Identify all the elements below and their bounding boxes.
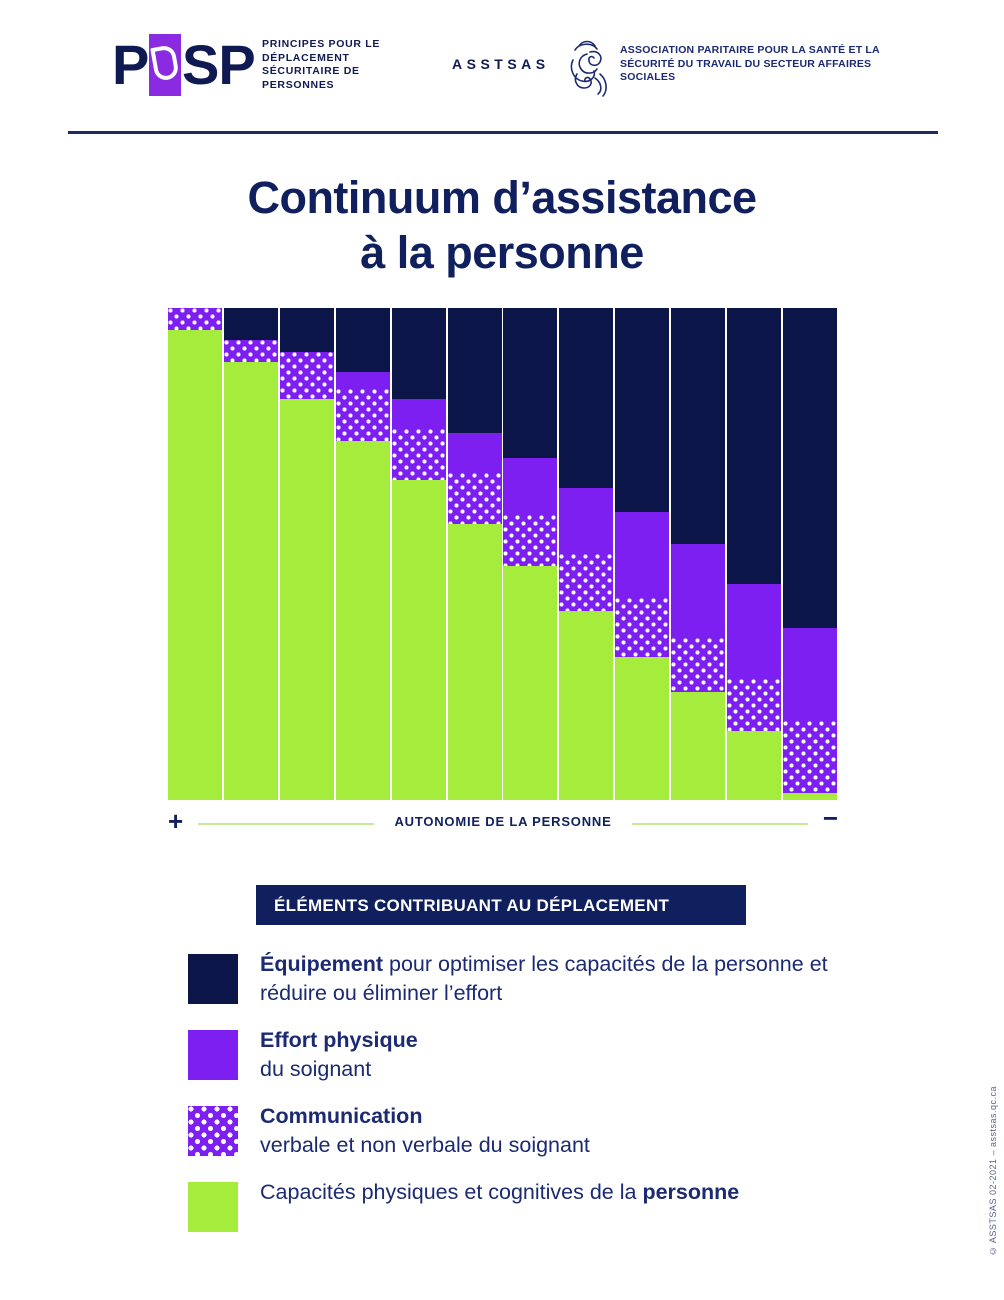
chart-segment-capacity bbox=[224, 362, 278, 800]
chart-segment-comm bbox=[336, 389, 390, 441]
chart-segment-equip bbox=[727, 308, 781, 584]
axis-label: AUTONOMIE DE LA PERSONNE bbox=[168, 814, 838, 829]
chart-segment-capacity bbox=[168, 330, 222, 800]
chart-segment-comm bbox=[503, 515, 557, 567]
axis-minus-icon: − bbox=[823, 805, 838, 831]
chart-segment-effort bbox=[783, 628, 837, 721]
legend-item-communication: Communicationverbale et non verbale du s… bbox=[188, 1102, 828, 1160]
chart-segment-comm bbox=[168, 308, 222, 330]
pdsp-logo-letters-sp: SP bbox=[182, 36, 255, 94]
page-title-line-2: à la personne bbox=[0, 225, 1004, 280]
chart-segment-capacity bbox=[559, 611, 613, 800]
page-header: P SP Principes pour le déplacement sécur… bbox=[0, 0, 1004, 122]
chart-bar bbox=[168, 308, 222, 800]
chart-bar bbox=[503, 308, 557, 800]
chart-bar bbox=[448, 308, 502, 800]
chart-segment-equip bbox=[224, 308, 278, 340]
legend-label-effort: Effort physiquedu soignant bbox=[260, 1026, 828, 1084]
chart-bar bbox=[392, 308, 446, 800]
chart-bar bbox=[336, 308, 390, 800]
asstsas-tagline: Association paritaire pour la santé et l… bbox=[620, 44, 910, 85]
chart-segment-equip bbox=[671, 308, 725, 544]
chart-bar bbox=[280, 308, 334, 800]
copyright-notice: © ASSTSAS 02-2021 – asstsas.qc.ca bbox=[988, 1086, 998, 1256]
autonomy-axis: + AUTONOMIE DE LA PERSONNE − bbox=[168, 812, 838, 838]
chart-segment-equip bbox=[615, 308, 669, 512]
chart-bar bbox=[783, 308, 837, 800]
legend-label-capacites: Capacités physiques et cognitives de la … bbox=[260, 1178, 828, 1207]
chart-segment-effort bbox=[559, 488, 613, 554]
chart-segment-effort bbox=[671, 544, 725, 637]
asstsas-wordmark: ASSTSAS bbox=[452, 56, 550, 72]
chart-segment-effort bbox=[392, 399, 446, 429]
pdsp-logo-letter-p: P bbox=[112, 36, 148, 94]
chart-segment-capacity bbox=[448, 524, 502, 800]
chart-segment-equip bbox=[336, 308, 390, 372]
asstsas-spiral-icon bbox=[565, 36, 613, 98]
pdsp-tagline: Principes pour le déplacement sécuritair… bbox=[262, 38, 392, 92]
pdsp-logo: P SP bbox=[112, 34, 260, 96]
chart-segment-capacity bbox=[615, 657, 669, 800]
chart-segment-equip bbox=[783, 308, 837, 628]
chart-segment-comm bbox=[448, 473, 502, 525]
page-title: Continuum d’assistance à la personne bbox=[0, 170, 1004, 280]
legend-label-communication: Communicationverbale et non verbale du s… bbox=[260, 1102, 828, 1160]
legend-swatch-equipement bbox=[188, 954, 238, 1004]
chart-segment-equip bbox=[448, 308, 502, 433]
chart-bar bbox=[224, 308, 278, 800]
legend-banner-title: ÉLÉMENTS CONTRIBUANT AU DÉPLACEMENT bbox=[274, 896, 669, 916]
chart-segment-equip bbox=[559, 308, 613, 488]
chart-segment-equip bbox=[503, 308, 557, 458]
chart-segment-capacity bbox=[783, 793, 837, 800]
chart-bar bbox=[615, 308, 669, 800]
legend-item-effort: Effort physiquedu soignant bbox=[188, 1026, 828, 1084]
chart-segment-capacity bbox=[336, 441, 390, 800]
chart-segment-capacity bbox=[671, 692, 725, 800]
legend-item-equipement: Équipement pour optimiser les capacités … bbox=[188, 950, 828, 1008]
header-divider bbox=[68, 131, 938, 134]
chart-segment-capacity bbox=[503, 566, 557, 800]
axis-line-right bbox=[632, 823, 808, 825]
chart-segment-comm bbox=[783, 721, 837, 792]
legend-swatch-capacites bbox=[188, 1182, 238, 1232]
chart-legend: Équipement pour optimiser les capacités … bbox=[188, 950, 828, 1252]
chart-segment-capacity bbox=[280, 399, 334, 800]
chart-segment-comm bbox=[671, 638, 725, 692]
chart-segment-comm bbox=[559, 554, 613, 611]
chart-segment-comm bbox=[727, 679, 781, 731]
chart-segment-effort bbox=[448, 433, 502, 472]
legend-banner: ÉLÉMENTS CONTRIBUANT AU DÉPLACEMENT bbox=[256, 885, 746, 925]
chart-segment-comm bbox=[280, 352, 334, 399]
chart-segment-effort bbox=[615, 512, 669, 598]
chart-segment-effort bbox=[336, 372, 390, 389]
chart-bar bbox=[559, 308, 613, 800]
chart-bar bbox=[727, 308, 781, 800]
chart-bar bbox=[671, 308, 725, 800]
chart-segment-effort bbox=[503, 458, 557, 515]
chart-segment-effort bbox=[727, 584, 781, 680]
chart-segment-capacity bbox=[727, 731, 781, 800]
legend-label-equipement: Équipement pour optimiser les capacités … bbox=[260, 950, 828, 1008]
chart-segment-capacity bbox=[392, 480, 446, 800]
chart-segment-comm bbox=[224, 340, 278, 362]
page-title-line-1: Continuum d’assistance bbox=[0, 170, 1004, 225]
chart-segment-equip bbox=[392, 308, 446, 399]
chart-segment-comm bbox=[615, 598, 669, 657]
legend-item-capacites: Capacités physiques et cognitives de la … bbox=[188, 1178, 828, 1234]
chart-segment-comm bbox=[392, 429, 446, 481]
legend-swatch-communication bbox=[188, 1106, 238, 1156]
continuum-stacked-bar-chart bbox=[168, 308, 838, 800]
chart-segment-equip bbox=[280, 308, 334, 352]
legend-swatch-effort bbox=[188, 1030, 238, 1080]
